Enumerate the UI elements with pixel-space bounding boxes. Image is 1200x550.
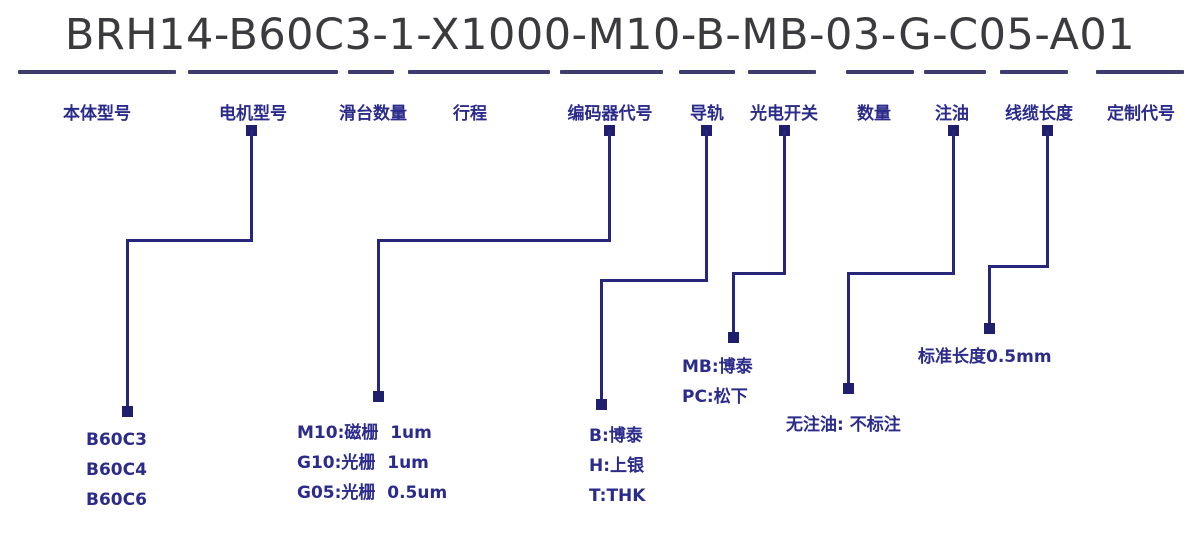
option-line: 无注油: 不标注 — [786, 410, 901, 440]
oil_leader-crossbar — [847, 272, 955, 275]
option-line: 标准长度0.5mm — [918, 342, 1052, 372]
segment-underline-body_model — [18, 70, 176, 74]
segment-underline-motor_model — [188, 70, 338, 74]
segment-underline-photo_switch — [748, 70, 816, 74]
oil_leader-lower-stem — [847, 272, 850, 388]
segment-underline-encoder_code — [560, 70, 663, 74]
guide_rail_leader-end-node — [596, 399, 607, 410]
encoder_leader-upper-stem — [608, 130, 611, 239]
option-line: T:THK — [589, 481, 645, 511]
body_model_leader-lower-stem — [126, 239, 129, 411]
body_model_leader-crossbar — [126, 239, 253, 242]
body_model_leader-upper-stem — [250, 130, 253, 239]
option-line: B60C6 — [86, 485, 147, 515]
option-block-guide_rail_options: B:博泰H:上银T:THK — [589, 421, 645, 511]
encoder_leader-end-node — [373, 391, 384, 402]
option-line: PC:松下 — [682, 382, 753, 412]
cable_leader-upper-stem — [1046, 130, 1049, 265]
cable_leader-lower-stem — [988, 265, 991, 328]
encoder_leader-crossbar — [377, 239, 611, 242]
photo_switch_leader-end-node — [728, 332, 739, 343]
segment-underline-stroke — [408, 70, 550, 74]
cable_leader-end-node — [984, 323, 995, 334]
option-line: M10:磁栅 1um — [297, 418, 447, 448]
guide_rail_leader-lower-stem — [600, 279, 603, 404]
model-number-breakdown-diagram: BRH14-B60C3-1-X1000-M10-B-MB-03-G-C05-A0… — [0, 0, 1200, 550]
option-line: B:博泰 — [589, 421, 645, 451]
option-block-cable_length_options: 标准长度0.5mm — [918, 342, 1052, 372]
photo_switch_leader-lower-stem — [732, 272, 735, 337]
oil_leader-upper-stem — [952, 130, 955, 272]
option-line: B60C3 — [86, 425, 147, 455]
field-label-custom_code: 定制代号 — [1041, 99, 1200, 124]
segment-underline-oil_injection — [924, 70, 986, 74]
photo_switch_leader-crossbar — [732, 272, 786, 275]
guide_rail_leader-upper-stem — [705, 130, 708, 279]
option-block-oil_injection_options: 无注油: 不标注 — [786, 410, 901, 440]
oil_leader-end-node — [843, 383, 854, 394]
option-line: B60C4 — [86, 455, 147, 485]
option-block-photo_switch_options: MB:博泰PC:松下 — [682, 352, 753, 412]
option-line: G10:光栅 1um — [297, 448, 447, 478]
encoder_leader-lower-stem — [377, 239, 380, 396]
photo_switch_leader-upper-stem — [783, 130, 786, 272]
body_model_leader-end-node — [122, 406, 133, 417]
guide_rail_leader-crossbar — [600, 279, 708, 282]
segment-underline-guide_rail — [679, 70, 735, 74]
model-number-title: BRH14-B60C3-1-X1000-M10-B-MB-03-G-C05-A0… — [0, 10, 1200, 60]
option-block-encoder_options: M10:磁栅 1umG10:光栅 1umG05:光栅 0.5um — [297, 418, 447, 508]
segment-underline-quantity — [846, 70, 914, 74]
option-block-body_model_options: B60C3B60C4B60C6 — [86, 425, 147, 515]
segment-underline-custom_code — [1096, 70, 1184, 74]
segment-underline-cable_length — [1000, 70, 1068, 74]
option-line: G05:光栅 0.5um — [297, 478, 447, 508]
segment-underline-slider_count — [348, 70, 394, 74]
option-line: MB:博泰 — [682, 352, 753, 382]
option-line: H:上银 — [589, 451, 645, 481]
cable_leader-crossbar — [988, 265, 1049, 268]
